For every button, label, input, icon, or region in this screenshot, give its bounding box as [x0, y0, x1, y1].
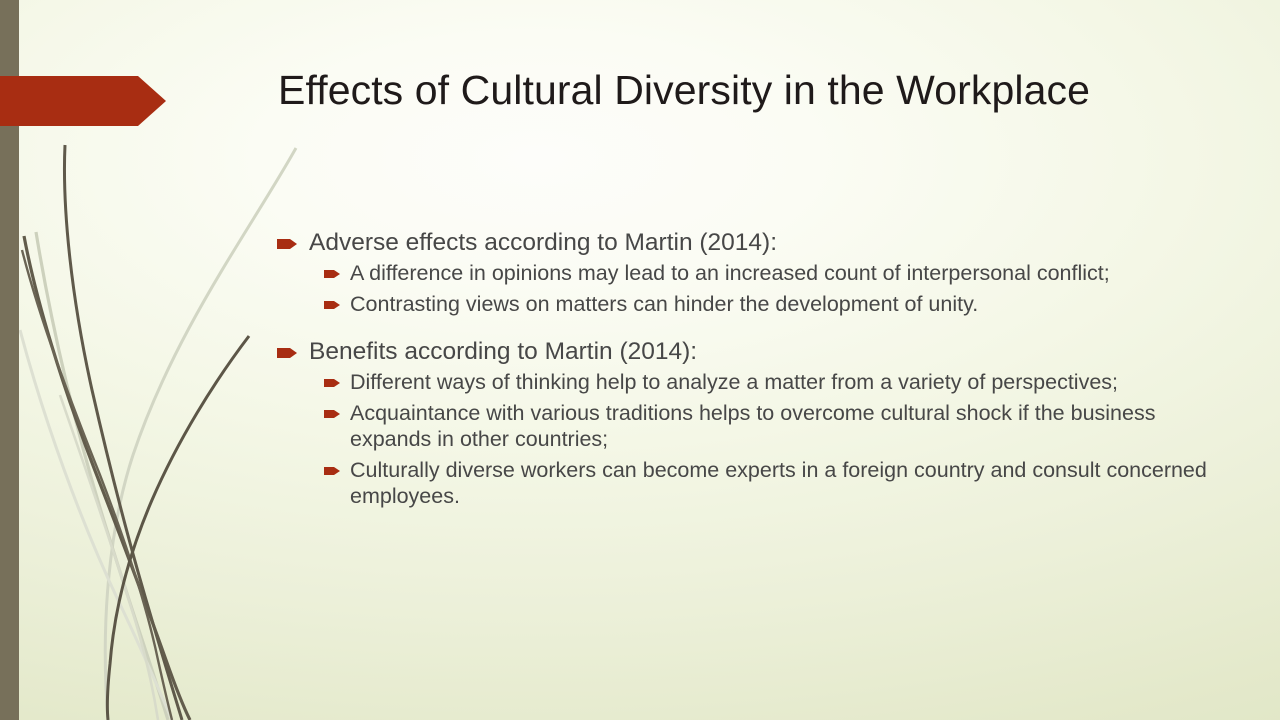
presentation-slide: Effects of Cultural Diversity in the Wor… [0, 0, 1280, 720]
bullet-item-level2: Different ways of thinking help to analy… [323, 369, 1221, 396]
pennant-bullet-icon [323, 300, 340, 310]
bullet-text: A difference in opinions may lead to an … [350, 260, 1110, 287]
pennant-bullet-icon [323, 409, 340, 419]
pennant-bullet-icon [276, 238, 297, 250]
bullet-text: Adverse effects according to Martin (201… [309, 227, 777, 258]
bullet-text: Culturally diverse workers can become ex… [350, 457, 1221, 510]
bullet-text: Different ways of thinking help to analy… [350, 369, 1118, 396]
bullet-text: Benefits according to Martin (2014): [309, 336, 697, 367]
pennant-bullet-icon [276, 347, 297, 359]
bullet-item-level1: Adverse effects according to Martin (201… [276, 227, 1221, 258]
bullet-text: Contrasting views on matters can hinder … [350, 291, 978, 318]
bullet-item-level2: Acquaintance with various traditions hel… [323, 400, 1221, 453]
bullet-item-level2: A difference in opinions may lead to an … [323, 260, 1221, 287]
pennant-bullet-icon [323, 378, 340, 388]
slide-title: Effects of Cultural Diversity in the Wor… [278, 66, 1238, 114]
bullet-text: Acquaintance with various traditions hel… [350, 400, 1221, 453]
red-arrow-banner [0, 76, 166, 126]
bullet-item-level2: Contrasting views on matters can hinder … [323, 291, 1221, 318]
bullet-item-level2: Culturally diverse workers can become ex… [323, 457, 1221, 510]
slide-body-content: Adverse effects according to Martin (201… [276, 226, 1221, 514]
pennant-bullet-icon [323, 466, 340, 476]
pennant-bullet-icon [323, 269, 340, 279]
bullet-item-level1: Benefits according to Martin (2014): [276, 336, 1221, 367]
section-spacer [276, 321, 1221, 335]
